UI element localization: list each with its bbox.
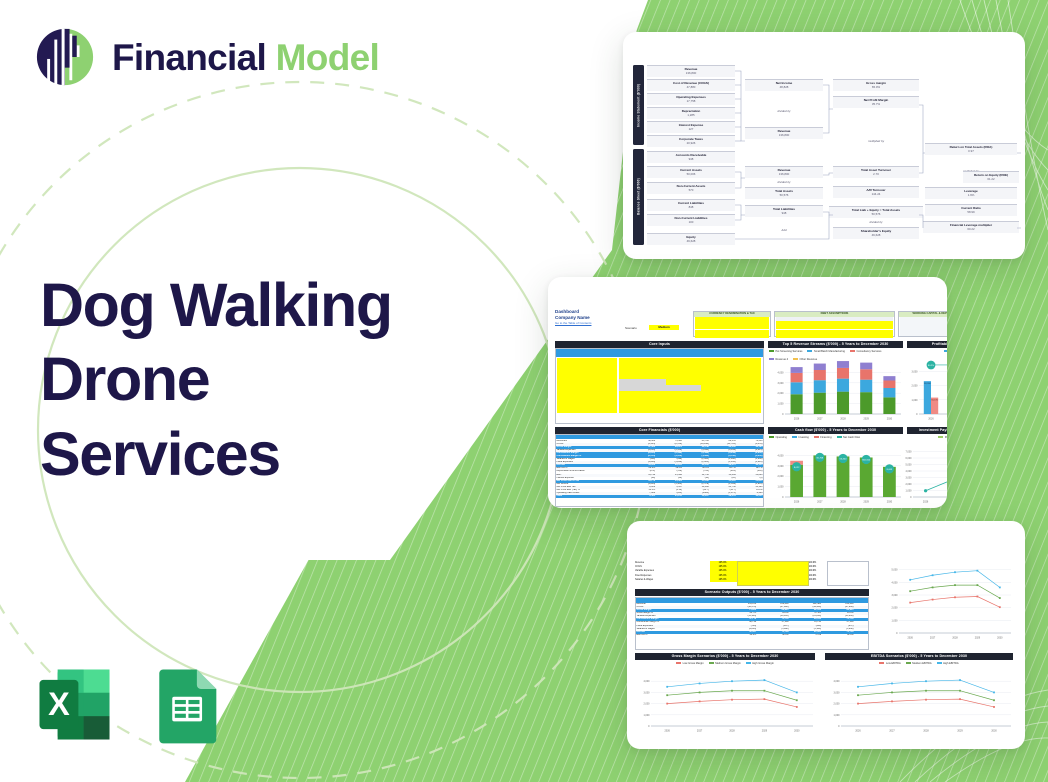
scenario-value-cell[interactable]: Medium (649, 325, 679, 330)
chart-ebitda-scenarios: 01,0002,0003,0004,0002026202720282029203… (825, 670, 1013, 736)
chart-cash-flow: 01,0002,0003,0004,0002026202720282029203… (769, 445, 903, 507)
left-content-column: Financial Model Dog Walking Drone Servic… (0, 0, 470, 782)
legend-gross-margin-scenarios: Low Gross Margin Medium Gross Margin Hig… (635, 662, 815, 665)
svg-text:1,000: 1,000 (906, 490, 913, 493)
title-line-1: Dog Walking (40, 268, 460, 342)
scenario-label: Scenario (625, 326, 637, 330)
svg-text:58,300: 58,300 (924, 383, 931, 385)
legend-cash-flow: Operating Investing Financing Net Cash F… (769, 436, 903, 439)
dupont-flow-diagram: Income Statement ($'000) Balance Sheet (… (633, 65, 1021, 245)
chart-title-revenue-streams: Top 5 Revenue Streams ($'000) - 5 Years … (768, 341, 903, 348)
svg-text:8,003: 8,003 (887, 469, 893, 471)
svg-text:0: 0 (648, 725, 650, 728)
svg-text:2029: 2029 (864, 501, 870, 504)
format-badges: X (33, 663, 228, 746)
legend-ebitda-scenarios: Low EBITDA Medium EBITDA High EBITDA (825, 662, 1013, 665)
financial-model-pie-chart-logo-icon (34, 26, 96, 88)
svg-text:3,000: 3,000 (778, 465, 785, 468)
svg-text:0: 0 (782, 413, 784, 416)
chart-title-payback: Investment Payback Chart ($'000) - 5 Yea… (907, 427, 947, 434)
page-title: Dog Walking Drone Services (40, 268, 460, 491)
chart-revenue-streams: 01,0002,0003,0004,0002026202720282029203… (769, 362, 903, 424)
svg-text:2028: 2028 (840, 501, 846, 504)
svg-text:2026: 2026 (665, 730, 671, 733)
svg-text:2029: 2029 (762, 730, 768, 733)
svg-text:2,000: 2,000 (906, 483, 913, 486)
svg-text:2026: 2026 (794, 501, 800, 504)
svg-text:2026: 2026 (928, 418, 934, 421)
table-core-financials: Revenues58,30073,50083,70088,55572,310CO… (555, 434, 764, 507)
legend-profitability: Revenue EBITDA EBITDA % (909, 350, 947, 353)
sensitivity-active-col (827, 561, 869, 586)
svg-text:2028: 2028 (952, 637, 958, 640)
table-core-inputs (555, 348, 764, 424)
brand-lockup: Financial Model (34, 26, 379, 88)
svg-text:5,000: 5,000 (906, 464, 913, 467)
brand-word-financial: Financial (112, 37, 266, 78)
dashboard-toc-link[interactable]: Go to the Table of Contents (555, 321, 591, 325)
svg-text:3,000: 3,000 (778, 382, 785, 385)
svg-text:2030: 2030 (887, 501, 893, 504)
svg-text:0: 0 (916, 413, 918, 416)
dashboard-body: Dashboard Company Name Go to the Table o… (553, 309, 942, 502)
svg-text:0: 0 (782, 496, 784, 499)
svg-text:X: X (48, 686, 70, 722)
chart-payback: 01,0002,0003,0004,0005,0006,0007,0002026… (909, 445, 947, 507)
svg-text:4,000: 4,000 (644, 680, 651, 683)
panel-working-capital: WORKING CAPITAL & DEPRECIATION (898, 311, 947, 337)
svg-text:2028: 2028 (840, 418, 846, 421)
svg-text:2,000: 2,000 (644, 703, 651, 706)
svg-text:5,000: 5,000 (892, 569, 899, 572)
svg-text:3,000: 3,000 (644, 691, 651, 694)
sensitivity-highlight (737, 561, 809, 586)
svg-text:2026: 2026 (923, 501, 929, 504)
svg-text:55,300: 55,300 (840, 458, 847, 460)
svg-text:0: 0 (896, 632, 898, 635)
svg-text:2028: 2028 (729, 730, 735, 733)
svg-text:2030: 2030 (991, 730, 997, 733)
svg-text:2,000: 2,000 (834, 703, 841, 706)
svg-text:2029: 2029 (864, 418, 870, 421)
panel-debt-assumptions: DEBT ASSUMPTIONS (774, 311, 895, 337)
svg-text:68,1000: 68,1000 (862, 459, 871, 461)
svg-text:4,000: 4,000 (892, 581, 899, 584)
title-line-3: Services (40, 417, 460, 491)
svg-text:2,000: 2,000 (778, 392, 785, 395)
svg-text:2027: 2027 (930, 637, 936, 640)
flow-connectors (633, 65, 1021, 247)
svg-text:4,000: 4,000 (834, 680, 841, 683)
svg-text:2028: 2028 (923, 730, 929, 733)
card-dupont-diagram[interactable]: Income Statement ($'000) Balance Sheet (… (623, 32, 1025, 259)
svg-text:1,000: 1,000 (778, 486, 785, 489)
chart-scenario-top-right: 01,0002,0003,0004,0005,00020262027202820… (883, 557, 1013, 643)
svg-text:3,000: 3,000 (834, 691, 841, 694)
svg-text:1,000: 1,000 (834, 714, 841, 717)
svg-text:1,000: 1,000 (892, 619, 899, 622)
svg-text:3,000: 3,000 (906, 477, 913, 480)
svg-text:56,180: 56,180 (931, 400, 938, 402)
svg-text:2026: 2026 (855, 730, 861, 733)
svg-text:4,000: 4,000 (778, 371, 785, 374)
svg-text:2,000: 2,000 (912, 385, 919, 388)
card-scenario-analysis[interactable]: Revenue105.0%100.0%110.0%100.0%COGS105.0… (627, 521, 1025, 749)
svg-text:2029: 2029 (975, 637, 981, 640)
core-inputs-total-row (556, 417, 763, 421)
dashboard-heading: Dashboard Company Name Go to the Table o… (555, 309, 591, 326)
svg-text:2030: 2030 (997, 637, 1003, 640)
svg-text:2,000: 2,000 (778, 475, 785, 478)
google-sheets-icon[interactable] (145, 663, 228, 746)
table-scenario-outputs: Revenue131,130136,800142,480136,800COGS(… (635, 597, 869, 650)
svg-text:0: 0 (838, 725, 840, 728)
svg-text:2026: 2026 (908, 637, 914, 640)
svg-text:3,000: 3,000 (892, 594, 899, 597)
svg-text:2,000: 2,000 (892, 607, 899, 610)
svg-text:2029: 2029 (957, 730, 963, 733)
svg-text:4,000: 4,000 (778, 454, 785, 457)
svg-text:7,000: 7,000 (906, 451, 913, 454)
panel-currency: CURRENCY DENOMINATION & TAX (693, 311, 771, 337)
svg-text:2027: 2027 (817, 418, 823, 421)
svg-text:4,000: 4,000 (906, 470, 913, 473)
svg-text:2030: 2030 (887, 418, 893, 421)
svg-text:80.2%: 80.2% (928, 365, 934, 367)
svg-text:0: 0 (910, 496, 912, 499)
svg-text:1,000: 1,000 (644, 714, 651, 717)
chart-title-gross-margin-scenarios: Gross Margin Scenarios ($'000) - 5 Years… (635, 653, 815, 660)
svg-text:2027: 2027 (697, 730, 703, 733)
chart-profitability: 01,0002,0003,0002026202720282029203058,3… (909, 357, 947, 424)
section-scenario-outputs: Scenario Outputs ($'000) - 5 Years to De… (635, 589, 869, 596)
svg-text:2027: 2027 (889, 730, 895, 733)
section-core-financials: Core Financials ($'000) (555, 427, 764, 434)
chart-gross-margin-scenarios: 01,0002,0003,0004,0002026202720282029203… (635, 670, 815, 736)
svg-text:2026: 2026 (794, 418, 800, 421)
microsoft-excel-icon[interactable]: X (33, 663, 116, 746)
title-line-2: Drone (40, 342, 460, 416)
section-core-inputs: Core Inputs (555, 341, 764, 348)
svg-text:3,000: 3,000 (912, 370, 919, 373)
svg-text:55,708: 55,708 (816, 457, 823, 459)
svg-text:1,000: 1,000 (778, 403, 785, 406)
brand-wordmark: Financial Model (112, 39, 379, 76)
chart-title-profitability: Profitability ($'000) - 5 Years to Decem… (907, 341, 947, 348)
core-financials-rows: Revenues58,30073,50083,70088,55572,310CO… (556, 439, 763, 498)
svg-text:6,000: 6,000 (906, 457, 913, 460)
legend-payback: Payback year Cumulative Cash Invested (G… (909, 436, 947, 439)
chart-title-cash-flow: Cash flow ($'000) - 5 Years to December … (768, 427, 903, 434)
legend-revenue-streams: Pet Screening Services Small Batch Manuf… (769, 350, 903, 361)
poster-canvas: Financial Model Dog Walking Drone Servic… (0, 0, 1048, 782)
flow-box-return-on-equity: Return on Equity (ROE) 61.22 (963, 171, 1019, 183)
chart-title-ebitda-scenarios: EBITDA Scenarios ($'000) - 5 Years to De… (825, 653, 1013, 660)
svg-text:1,000: 1,000 (912, 399, 919, 402)
svg-text:2030: 2030 (794, 730, 800, 733)
svg-text:8,022: 8,022 (794, 467, 800, 469)
card-financial-dashboard[interactable]: Dashboard Company Name Go to the Table o… (548, 277, 947, 508)
svg-text:2027: 2027 (817, 501, 823, 504)
brand-word-model: Model (276, 39, 379, 76)
